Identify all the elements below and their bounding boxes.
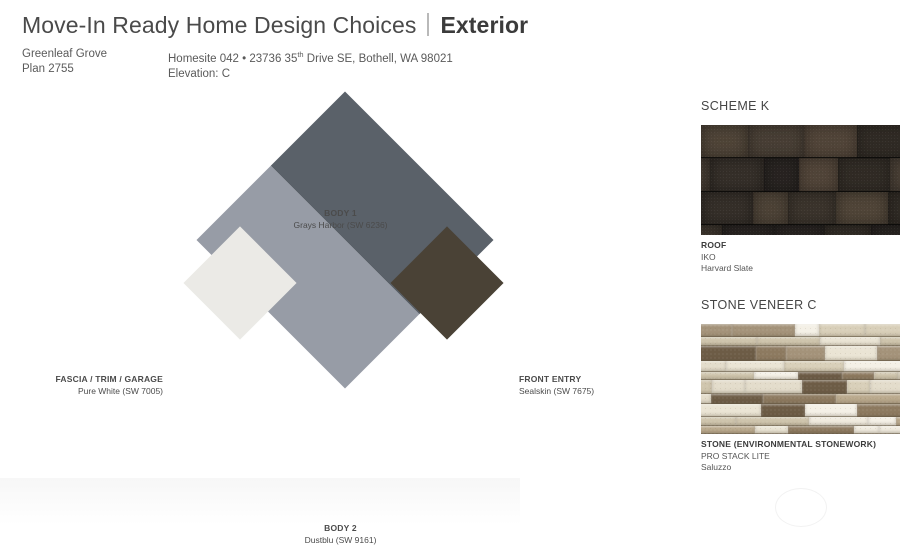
roof-shingle-swatch	[701, 125, 900, 235]
page-edge-artifact-circle	[775, 488, 827, 527]
front-entry-label: FRONT ENTRY Sealskin (SW 7675)	[519, 374, 594, 397]
body2-label: BODY 2 Dustblu (SW 9161)	[238, 523, 443, 546]
page-edge-artifact	[0, 478, 520, 525]
page-subtitle: Exterior	[440, 14, 528, 37]
body1-label: BODY 1 Grays Harbor (SW 6236)	[238, 208, 443, 231]
community-name: Greenleaf Grove	[22, 47, 107, 62]
homesite-info: Homesite 042 • 23736 35th Drive SE, Both…	[168, 47, 453, 82]
scheme-heading: SCHEME K	[701, 99, 900, 113]
fascia-label: FASCIA / TRIM / GARAGE Pure White (SW 70…	[8, 374, 163, 397]
page-header: Move-In Ready Home Design Choices Exteri…	[22, 10, 528, 37]
stone-veneer-heading: STONE VENEER C	[701, 298, 900, 312]
stone-veneer-panel: STONE VENEER C STONE (ENVIRONMENTAL STON…	[701, 298, 900, 474]
elevation-label: Elevation: C	[168, 67, 453, 82]
community-info: Greenleaf Grove Plan 2755	[22, 47, 107, 77]
roof-caption: ROOF IKO Harvard Slate	[701, 240, 900, 275]
homesite-address: Homesite 042 • 23736 35th Drive SE, Both…	[168, 47, 453, 67]
plan-number: Plan 2755	[22, 62, 107, 77]
scheme-panel: SCHEME K ROOF IKO Harvard Slate	[701, 99, 900, 275]
stone-veneer-swatch	[701, 324, 900, 434]
page-title: Move-In Ready Home Design Choices	[22, 14, 416, 37]
stone-caption: STONE (ENVIRONMENTAL STONEWORK) PRO STAC…	[701, 439, 900, 474]
title-divider	[427, 13, 429, 36]
color-palette-diagram: BODY 1 Grays Harbor (SW 6236) BODY 2 Dus…	[0, 95, 680, 475]
